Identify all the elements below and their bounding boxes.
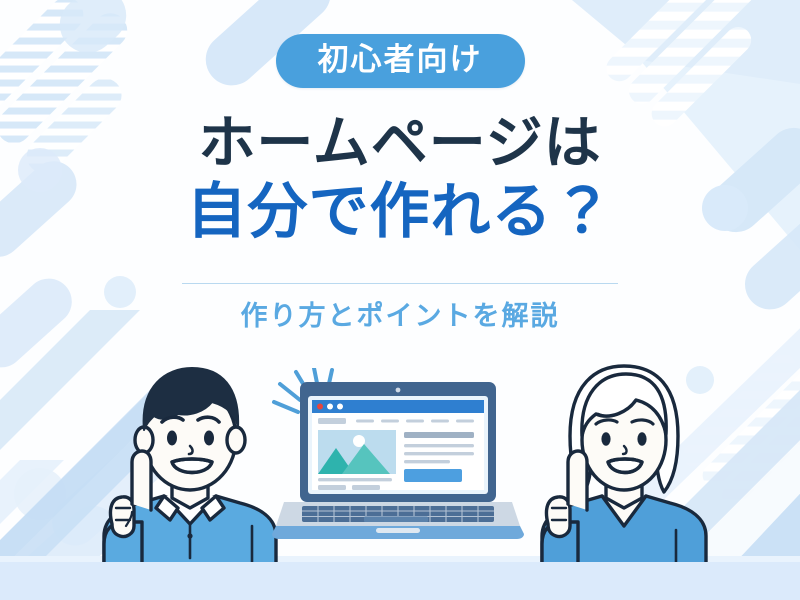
hero-content: 初心者向け ホームページは 自分で作れる？ 作り方とポイントを解説 — [0, 0, 800, 600]
title-line-2: 自分で作れる？ — [0, 178, 800, 245]
beginner-badge: 初心者向け — [276, 34, 525, 88]
hero-banner: 初心者向け ホームページは 自分で作れる？ 作り方とポイントを解説 — [0, 0, 800, 600]
woman-character-illustration — [516, 354, 726, 570]
illustration-row — [0, 330, 800, 600]
page-title: ホームページは 自分で作れる？ — [0, 112, 800, 245]
floor-band — [0, 562, 800, 600]
title-line-1: ホームページは — [0, 112, 800, 176]
cta-button-mock — [404, 469, 462, 482]
subtitle: 作り方とポイントを解説 — [0, 294, 800, 333]
title-divider — [182, 283, 618, 284]
badge-container: 初心者向け — [0, 34, 800, 88]
man-character-illustration — [86, 358, 296, 570]
laptop-with-website-illustration — [268, 368, 528, 548]
